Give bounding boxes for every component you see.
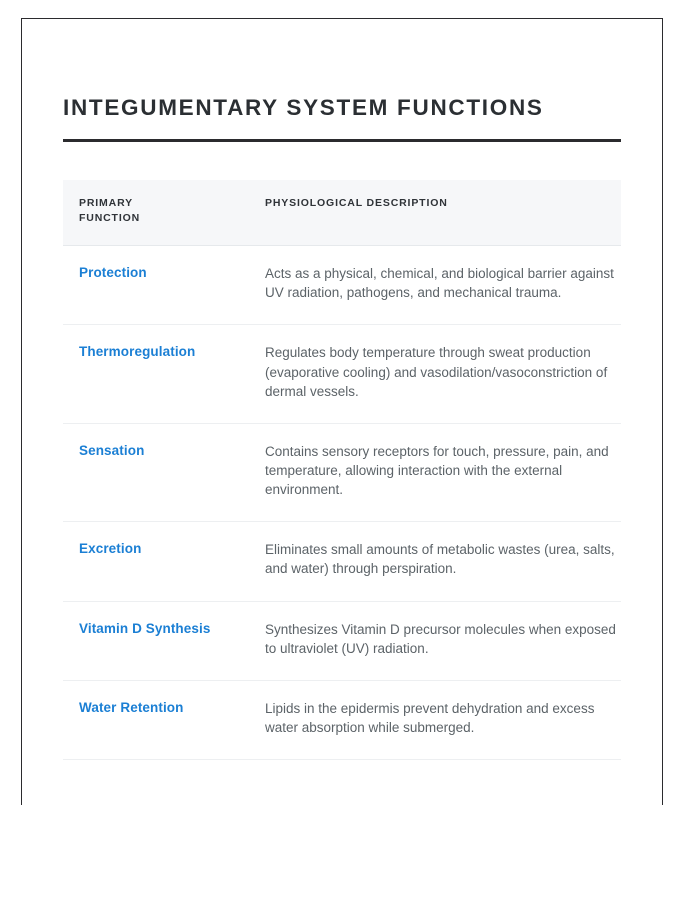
document-page-frame: INTEGUMENTARY SYSTEM FUNCTIONS PRIMARY F… [21,18,663,805]
function-description: Eliminates small amounts of metabolic wa… [262,522,621,601]
function-description: Lipids in the epidermis prevent dehydrat… [262,680,621,759]
table-body: Protection Acts as a physical, chemical,… [63,246,621,760]
table-row: Thermoregulation Regulates body temperat… [63,325,621,423]
table-row: Excretion Eliminates small amounts of me… [63,522,621,601]
table-row: Sensation Contains sensory receptors for… [63,423,621,521]
function-name: Protection [63,246,262,325]
title-underline-rule [63,139,621,142]
function-description: Acts as a physical, chemical, and biolog… [262,246,621,325]
document-content: INTEGUMENTARY SYSTEM FUNCTIONS PRIMARY F… [63,79,621,760]
page-title: INTEGUMENTARY SYSTEM FUNCTIONS [63,94,621,121]
table-header-row: PRIMARY FUNCTION PHYSIOLOGICAL DESCRIPTI… [63,180,621,245]
function-name: Vitamin D Synthesis [63,601,262,680]
function-description: Contains sensory receptors for touch, pr… [262,423,621,521]
column-header-primary-function-line2: FUNCTION [79,212,140,224]
function-name: Sensation [63,423,262,521]
table-row: Protection Acts as a physical, chemical,… [63,246,621,325]
table-header: PRIMARY FUNCTION PHYSIOLOGICAL DESCRIPTI… [63,180,621,245]
function-description: Regulates body temperature through sweat… [262,325,621,423]
function-name: Excretion [63,522,262,601]
function-name: Thermoregulation [63,325,262,423]
function-name: Water Retention [63,680,262,759]
integumentary-functions-table: PRIMARY FUNCTION PHYSIOLOGICAL DESCRIPTI… [63,180,621,760]
table-row: Vitamin D Synthesis Synthesizes Vitamin … [63,601,621,680]
column-header-physiological-description: PHYSIOLOGICAL DESCRIPTION [262,180,621,245]
column-header-primary-function-line1: PRIMARY [79,197,133,209]
column-header-primary-function: PRIMARY FUNCTION [63,180,262,245]
function-description: Synthesizes Vitamin D precursor molecule… [262,601,621,680]
table-row: Water Retention Lipids in the epidermis … [63,680,621,759]
